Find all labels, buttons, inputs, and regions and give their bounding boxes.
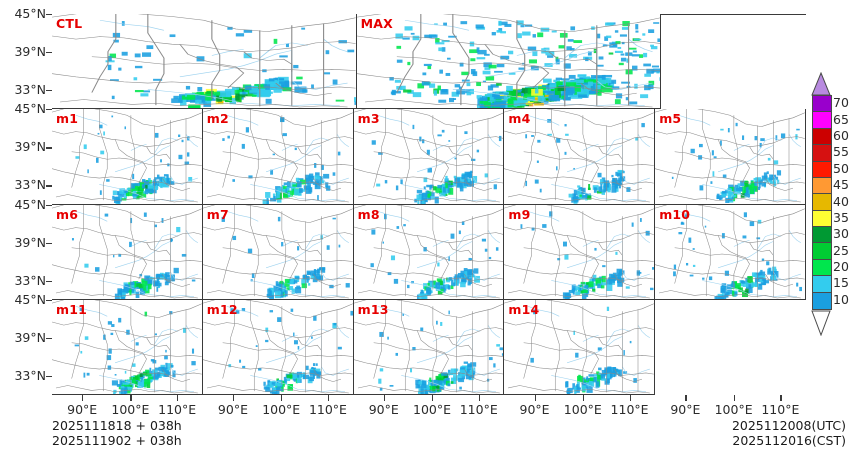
colorbar-band <box>813 129 831 145</box>
panel-label-m5: m5 <box>659 111 681 126</box>
panel-label-m7: m7 <box>207 207 229 222</box>
lon-tick <box>685 395 686 401</box>
panel-label-m3: m3 <box>358 111 380 126</box>
colorbar-band <box>813 194 831 210</box>
panel-label-m8: m8 <box>358 207 380 222</box>
colorbar-tick-label: 35 <box>833 212 849 225</box>
colorbar-band <box>813 227 831 243</box>
lon-tick <box>130 395 131 401</box>
lat-label: 45°N <box>2 292 46 307</box>
lon-tick <box>535 395 536 401</box>
map-panel-m9[interactable]: m9 <box>504 205 655 300</box>
colorbar-tick-label: 15 <box>833 277 849 290</box>
reflectivity-field <box>222 117 340 203</box>
colorbar-band <box>813 211 831 227</box>
panel-label-m1: m1 <box>56 111 78 126</box>
colorbar-band <box>813 112 831 128</box>
reflectivity-field <box>672 123 800 203</box>
lon-label: 100°E <box>105 402 155 417</box>
panel-label-ctl: CTL <box>56 16 82 31</box>
lon-label: 100°E <box>256 402 306 417</box>
colorbar[interactable] <box>812 95 832 310</box>
map-panel-m3[interactable]: m3 <box>354 109 505 204</box>
colorbar-band <box>813 260 831 276</box>
colorbar-band <box>813 276 831 292</box>
lon-tick <box>328 395 329 401</box>
colorbar-under-arrow <box>811 310 831 336</box>
lon-label: 90°E <box>57 402 107 417</box>
reflectivity-field <box>75 308 196 394</box>
map-panel-m13[interactable]: m13 <box>354 300 505 395</box>
footer-right: 2025112008(UTC) 2025112016(CST) <box>732 418 846 448</box>
colorbar-tick-label: 30 <box>833 228 849 241</box>
map-panel-m6[interactable]: m6 <box>52 205 203 300</box>
reflectivity-field <box>526 119 646 203</box>
lon-tick <box>479 395 480 401</box>
lon-tick <box>233 395 234 401</box>
lat-label: 39°N <box>2 44 46 59</box>
lon-label: 110°E <box>152 402 202 417</box>
lon-tick <box>583 395 584 401</box>
valid-time-cst: 2025112016(CST) <box>732 433 846 448</box>
lat-label: 33°N <box>2 273 46 288</box>
lon-label: 110°E <box>605 402 655 417</box>
lat-label: 45°N <box>2 101 46 116</box>
colorbar-tick-label: 65 <box>833 114 849 127</box>
colorbar-band <box>813 243 831 259</box>
lon-label: 110°E <box>303 402 353 417</box>
lon-tick <box>630 395 631 401</box>
lat-label: 39°N <box>2 139 46 154</box>
colorbar-tick-label: 40 <box>833 196 849 209</box>
init-time-line1: 2025111818 + 038h <box>52 418 182 433</box>
empty-panel-slot <box>655 300 806 395</box>
lon-tick <box>384 395 385 401</box>
lon-label: 110°E <box>755 402 805 417</box>
lon-label: 90°E <box>510 402 560 417</box>
lon-label: 90°E <box>359 402 409 417</box>
colorbar-tick-label: 10 <box>833 294 849 307</box>
map-panel-m1[interactable]: m1 <box>52 109 203 204</box>
panel-label-m6: m6 <box>56 207 78 222</box>
colorbar-tick-label: 20 <box>833 261 849 274</box>
panel-label-m4: m4 <box>508 111 530 126</box>
colorbar-tick-label: 70 <box>833 97 849 110</box>
lon-tick <box>734 395 735 401</box>
colorbar-tick-label: 60 <box>833 130 849 143</box>
colorbar-over-arrow <box>811 72 831 96</box>
lat-label: 45°N <box>2 6 46 21</box>
lon-label: 100°E <box>407 402 457 417</box>
reflectivity-field <box>378 310 504 394</box>
lon-label: 100°E <box>709 402 759 417</box>
map-panel-ctl[interactable]: CTL <box>52 14 357 109</box>
colorbar-band <box>813 178 831 194</box>
lat-label: 33°N <box>2 177 46 192</box>
panel-label-m14: m14 <box>508 302 539 317</box>
lon-tick <box>780 395 781 401</box>
footer-left: 2025111818 + 038h 2025111902 + 038h <box>52 418 182 448</box>
lon-tick <box>177 395 178 401</box>
colorbar-tick-label: 55 <box>833 146 849 159</box>
lon-tick <box>432 395 433 401</box>
map-panel-m12[interactable]: m12 <box>203 300 354 395</box>
map-panel-m7[interactable]: m7 <box>203 205 354 300</box>
panel-grid: CTLMAXm1m2m3m4m5m6m7m8m9m10m11m12m13m14 <box>52 14 806 395</box>
lon-tick <box>82 395 83 401</box>
lon-tick <box>281 395 282 401</box>
colorbar-band <box>813 145 831 161</box>
panel-label-max: MAX <box>361 16 393 31</box>
map-canvas <box>357 14 661 108</box>
map-panel-m2[interactable]: m2 <box>203 109 354 204</box>
map-canvas <box>52 14 356 108</box>
map-panel-m10[interactable]: m10 <box>655 205 806 300</box>
panel-label-m12: m12 <box>207 302 238 317</box>
init-time-line2: 2025111902 + 038h <box>52 433 182 448</box>
lon-label: 100°E <box>558 402 608 417</box>
panel-label-m2: m2 <box>207 111 229 126</box>
valid-time-utc: 2025112008(UTC) <box>732 418 846 433</box>
map-panel-m14[interactable]: m14 <box>504 300 655 395</box>
lat-label: 39°N <box>2 330 46 345</box>
lon-label: 90°E <box>208 402 258 417</box>
colorbar-tick-label: 45 <box>833 179 849 192</box>
map-panel-m8[interactable]: m8 <box>354 205 505 300</box>
panel-label-m10: m10 <box>659 207 690 222</box>
map-panel-m5[interactable]: m5 <box>655 109 806 204</box>
colorbar-band <box>813 96 831 112</box>
lat-label: 33°N <box>2 368 46 383</box>
colorbar-band <box>813 162 831 178</box>
map-panel-m4[interactable]: m4 <box>504 109 655 204</box>
lon-label: 90°E <box>660 402 710 417</box>
panel-label-m9: m9 <box>508 207 530 222</box>
reflectivity-field <box>75 116 192 204</box>
colorbar-tick-label: 25 <box>833 245 849 258</box>
lat-label: 33°N <box>2 82 46 97</box>
panel-label-m13: m13 <box>358 302 389 317</box>
lat-label: 45°N <box>2 197 46 212</box>
map-panel-max[interactable]: MAX <box>357 14 662 109</box>
colorbar-tick-label: 50 <box>833 163 849 176</box>
map-panel-m11[interactable]: m11 <box>52 300 203 395</box>
panel-label-m11: m11 <box>56 302 87 317</box>
lon-label: 110°E <box>454 402 504 417</box>
colorbar-band <box>813 293 831 309</box>
lat-label: 39°N <box>2 235 46 250</box>
figure-root: East_Northwest radarCRX CMA-REPS 45°N39°… <box>0 0 860 456</box>
